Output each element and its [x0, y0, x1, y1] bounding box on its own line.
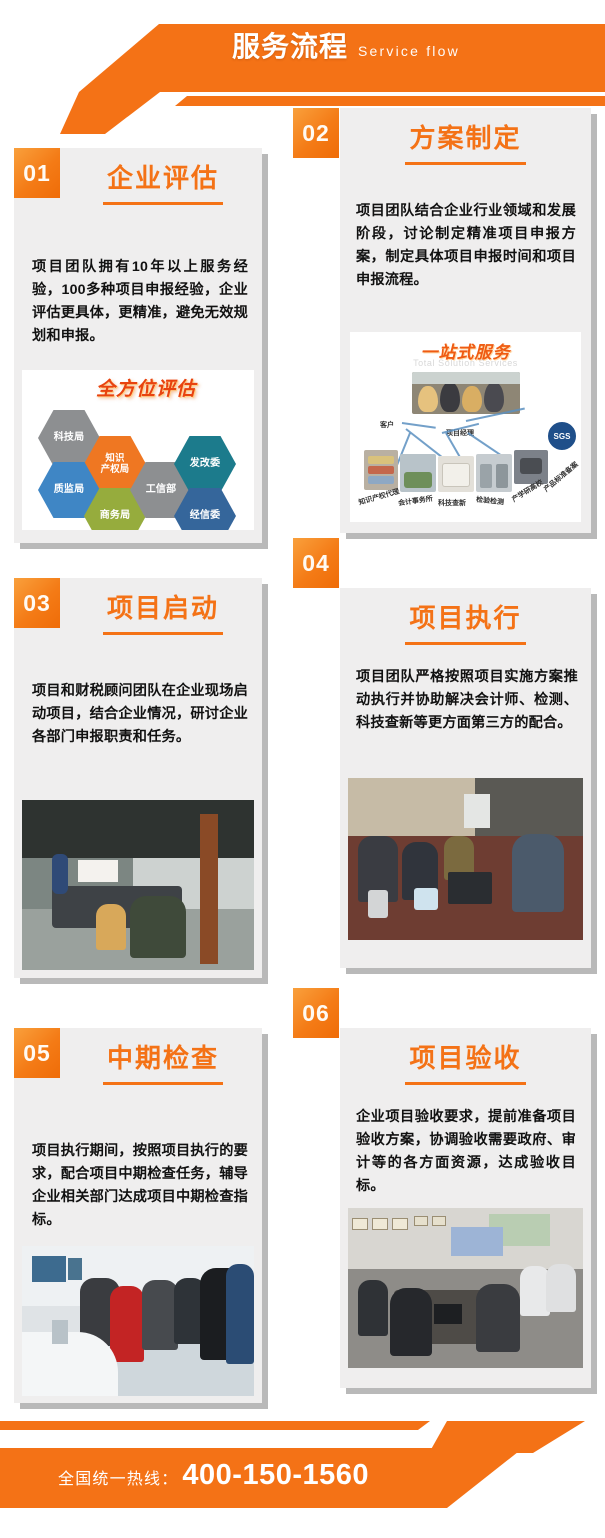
step-description: 项目团队结合企业行业领域和发展阶段，讨论制定精准项目申报方案，制定具体项目申报时… [356, 200, 576, 292]
flow-node-industry-academia [514, 450, 548, 484]
step-description: 项目团队严格按照项目实施方案推动执行并协助解决会计师、检测、科技查新等更方面第三… [356, 666, 578, 735]
step-number-badge: 04 [293, 538, 339, 588]
photo-kickoff-meeting [22, 800, 254, 970]
hex-node-label: 质监局 [54, 484, 85, 495]
step-card-01: 01 企业评估 项目团队拥有10年以上服务经验，100多种项目申报经验，企业评估… [14, 148, 262, 543]
footer-hotline: 全国统一热线： 400-150-1560 [58, 1459, 369, 1492]
step-card-04: 04 项目执行 项目团队严格按照项目实施方案推动执行并协助解决会计师、检测、科技… [340, 588, 591, 968]
header-title-group: 服务流程 Service flow [0, 30, 605, 64]
flow-label-accounting-firm: 会计事务所 [397, 494, 433, 509]
hex-node-label: 商务局 [100, 510, 131, 521]
flow-node-certification-badge: SGS [546, 420, 578, 452]
step-card-02: 02 方案制定 项目团队结合企业行业领域和发展阶段，讨论制定精准项目申报方案，制… [340, 108, 591, 533]
step-description: 项目团队拥有10年以上服务经验，100多种项目申报经验，企业评估更具体，更精准，… [32, 256, 248, 348]
step-number-badge: 06 [293, 988, 339, 1038]
service-flow-infographic: 服务流程 Service flow 01 企业评估 项目团队拥有10年以上服务经… [0, 0, 605, 1538]
hotline-number[interactable]: 400-150-1560 [182, 1459, 369, 1492]
page-footer: 全国统一热线： 400-150-1560 [0, 1421, 605, 1538]
step-title-wrap: 项目验收 [340, 1028, 591, 1085]
step-title: 项目验收 [405, 1042, 525, 1085]
hex-node-label: 科技局 [54, 432, 85, 443]
flow-label-tech-novelty-search: 科技查新 [438, 498, 466, 508]
page-subtitle: Service flow [358, 43, 460, 59]
step-number-badge: 03 [14, 578, 60, 628]
flow-label-customer: 客户 [380, 420, 394, 430]
flow-node-inspection-testing [476, 454, 512, 492]
hex-diagram-title: 全方位评估 [96, 374, 196, 401]
step-description: 项目和财税顾问团队在企业现场启动项目，结合企业情况，研讨企业各部门申报职责和任务… [32, 680, 248, 749]
hex-node-label: 工信部 [146, 484, 177, 495]
hex-node-label: 知识 产权局 [101, 453, 130, 474]
photo-execution-meeting [348, 778, 583, 940]
flow-label-inspection-testing: 检验检测 [476, 495, 505, 508]
photo-site-inspection [22, 1246, 254, 1396]
step-number-badge: 02 [293, 108, 339, 158]
flow-diagram-subtitle: Total Solution Services [350, 358, 581, 368]
step-card-03: 03 项目启动 项目和财税顾问团队在企业现场启动项目，结合企业情况，研讨企业各部… [14, 578, 262, 978]
hex-node-label: 发改委 [190, 458, 221, 469]
hex-node-label: 经信委 [190, 510, 221, 521]
page-title: 服务流程 [232, 30, 348, 64]
one-stop-service-diagram: 一站式服务 Total Solution Services 客户 项目经理 [350, 332, 581, 522]
step-title: 项目执行 [405, 602, 525, 645]
step-title: 中期检查 [103, 1042, 223, 1085]
flow-node-ip-agency [364, 450, 398, 490]
step-title-wrap: 方案制定 [340, 108, 591, 165]
flow-node-accounting-firm [400, 454, 436, 492]
step-description: 项目执行期间，按照项目执行的要求，配合项目中期检查任务，辅导企业相关部门达成项目… [32, 1140, 248, 1232]
step-card-05: 05 中期检查 项目执行期间，按照项目执行的要求，配合项目中期检查任务，辅导企业… [14, 1028, 262, 1403]
step-number-badge: 01 [14, 148, 60, 198]
flow-node-meeting-photo [412, 372, 520, 414]
step-title: 项目启动 [103, 592, 223, 635]
certification-badge-label: SGS [554, 432, 571, 441]
hotline-label: 全国统一热线： [58, 1465, 178, 1489]
hex-diagram: 全方位评估 科技局 知识 产权局 质监局 商务局 工信部 发改委 经信委 [22, 370, 254, 530]
flow-node-tech-novelty-search [438, 456, 474, 492]
step-title: 企业评估 [103, 162, 223, 205]
step-title-wrap: 项目执行 [340, 588, 591, 645]
step-number-badge: 05 [14, 1028, 60, 1078]
step-title: 方案制定 [405, 122, 525, 165]
step-card-06: 06 项目验收 企业项目验收要求，提前准备项目验收方案，协调验收需要政府、审计等… [340, 1028, 591, 1388]
photo-acceptance-meeting [348, 1208, 583, 1368]
step-description: 企业项目验收要求，提前准备项目验收方案，协调验收需要政府、审计等的各方面资源，达… [356, 1106, 576, 1198]
page-header: 服务流程 Service flow [0, 0, 605, 112]
